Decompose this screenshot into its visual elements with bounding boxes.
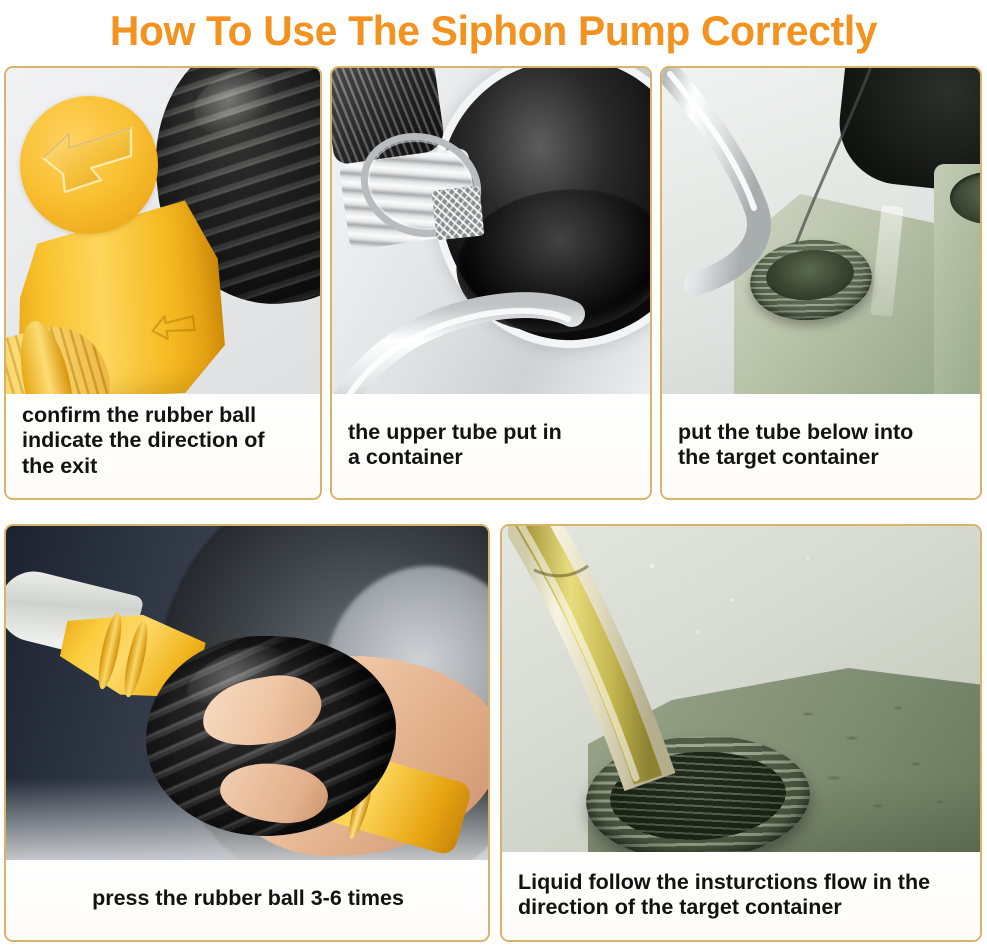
infographic-page: How To Use The Siphon Pump Correctly	[0, 0, 987, 946]
step-1-photo	[6, 68, 320, 394]
step-1-caption: confirm the rubber ball indicate the dir…	[6, 394, 320, 498]
siphon-tube-with-fuel	[508, 526, 738, 814]
step-4-caption: press the rubber ball 3-6 times	[6, 860, 488, 940]
step-5-caption-text: Liquid follow the insturctions flow in t…	[518, 870, 930, 921]
siphon-tube-shape	[662, 68, 872, 312]
step-1-caption-text: confirm the rubber ball indicate the dir…	[22, 403, 265, 479]
step-panel-2: the upper tube put in a container	[330, 66, 652, 500]
step-panel-5: Liquid follow the insturctions flow in t…	[500, 524, 982, 942]
step-3-caption: put the tube below into the target conta…	[662, 394, 980, 498]
step-panel-1: confirm the rubber ball indicate the dir…	[4, 66, 322, 500]
step-5-caption: Liquid follow the insturctions flow in t…	[502, 852, 980, 940]
page-title-bar: How To Use The Siphon Pump Correctly	[0, 0, 987, 62]
step-panel-4: press the rubber ball 3-6 times	[4, 524, 490, 942]
step-4-caption-text: press the rubber ball 3-6 times	[92, 886, 404, 911]
step-2-photo	[332, 68, 650, 394]
arrow-left-icon	[39, 122, 135, 202]
step-2-caption-text: the upper tube put in a container	[348, 420, 562, 471]
step-4-photo	[6, 526, 488, 860]
step-3-photo	[662, 68, 980, 394]
siphon-tube-shape	[332, 218, 610, 394]
page-title: How To Use The Siphon Pump Correctly	[110, 7, 877, 55]
liquid-droplets	[790, 694, 980, 852]
step-panel-3: put the tube below into the target conta…	[660, 66, 982, 500]
step-2-caption: the upper tube put in a container	[332, 394, 650, 498]
step-3-caption-text: put the tube below into the target conta…	[678, 420, 913, 471]
step-5-photo	[502, 526, 980, 852]
embossed-arrow-icon	[148, 305, 199, 347]
